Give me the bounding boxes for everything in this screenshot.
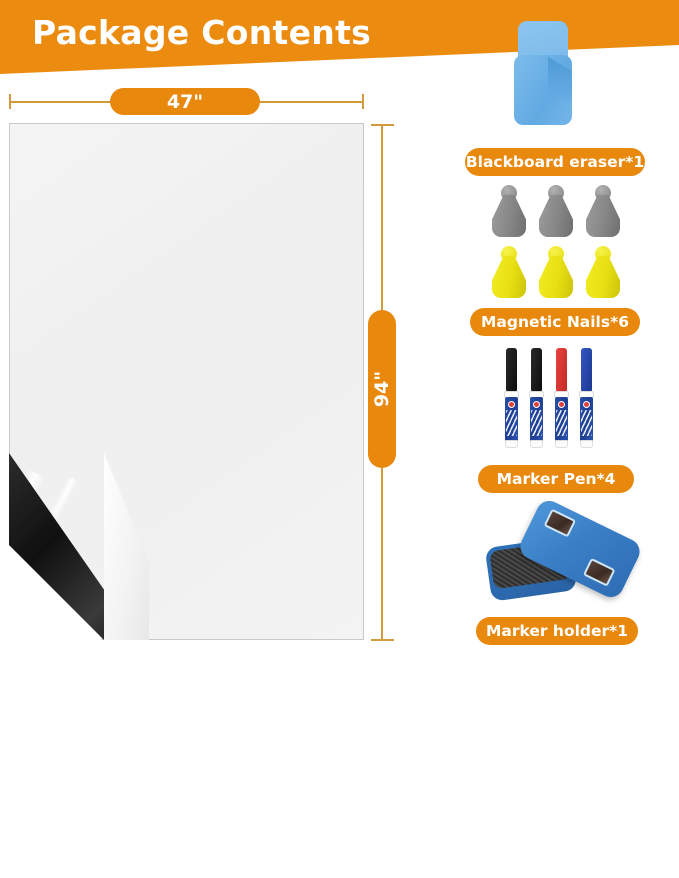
nail-body [586, 195, 620, 237]
magnetic-nail-yellow-icon [492, 246, 526, 298]
pen-cap [581, 348, 592, 391]
blackboard-eraser-icon [514, 21, 586, 126]
nail-body [539, 195, 573, 237]
page-title: Package Contents [32, 13, 371, 53]
magnetic-nail-yellow-icon [586, 246, 620, 298]
pen-brand-dot [508, 401, 515, 408]
width-label: 47" [110, 88, 260, 115]
blackboard-eraser-label: Blackboard eraser*1 [465, 148, 645, 176]
pen-tail [530, 440, 543, 448]
magnetic-nails-label: Magnetic Nails*6 [470, 308, 640, 336]
holder-magnet-panel [544, 509, 577, 538]
pen-brand-dot [533, 401, 540, 408]
pen-brand-script [531, 410, 542, 436]
pen-brand-script [581, 410, 592, 436]
nail-body [492, 256, 526, 298]
nail-body [586, 256, 620, 298]
pen-cap [506, 348, 517, 391]
pen-cap [531, 348, 542, 391]
pen-brand-dot [558, 401, 565, 408]
marker-pen-blue-icon [578, 348, 595, 448]
height-label-text: 94" [371, 371, 393, 407]
whiteboard [9, 123, 364, 640]
magnetic-nail-gray-icon [586, 185, 620, 237]
marker-holder-icon [488, 518, 638, 602]
pen-tail [505, 440, 518, 448]
nail-body [539, 256, 573, 298]
marker-pen-red-icon [553, 348, 570, 448]
height-label: 94" [368, 310, 396, 468]
magnetic-nail-yellow-icon [539, 246, 573, 298]
pen-tail [580, 440, 593, 448]
width-end-cap-right [362, 94, 364, 109]
pen-brand-dot [583, 401, 590, 408]
nail-body [492, 195, 526, 237]
pen-brand-script [556, 410, 567, 436]
height-end-cap-bottom [371, 639, 394, 641]
height-end-cap-top [371, 124, 394, 126]
marker-pen-black-icon [528, 348, 545, 448]
pen-brand-script [506, 410, 517, 436]
magnetic-nail-gray-icon [539, 185, 573, 237]
pen-cap [556, 348, 567, 391]
pen-tail [555, 440, 568, 448]
holder-magnet-panel [583, 558, 616, 587]
width-end-cap-left [9, 94, 11, 109]
magnetic-nail-gray-icon [492, 185, 526, 237]
marker-pen-black-icon [503, 348, 520, 448]
marker-holder-label: Marker holder*1 [476, 617, 638, 645]
marker-pen-label: Marker Pen*4 [478, 465, 634, 493]
